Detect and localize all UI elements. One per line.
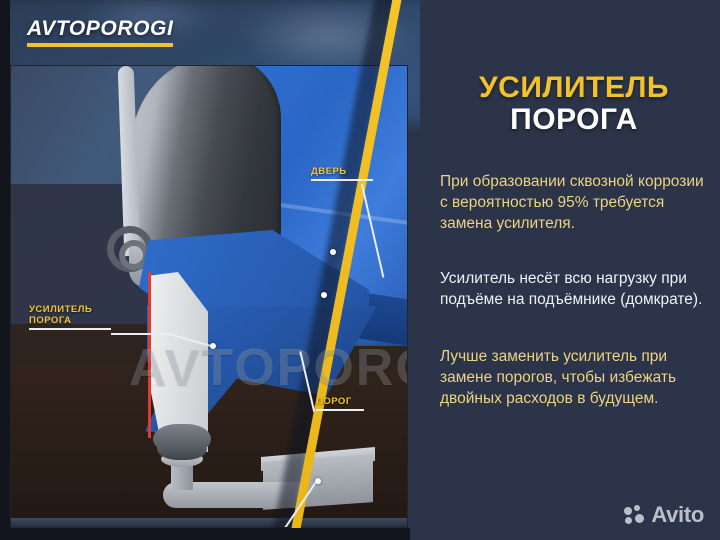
- callout-reinforcement-label-line1: УСИЛИТЕЛЬ: [29, 304, 92, 315]
- paragraph-load: Усилитель несёт всю нагрузку при подъёме…: [440, 268, 708, 310]
- callout-sill: ПОРОГ: [316, 396, 364, 411]
- callout-sill-rule: [316, 409, 364, 411]
- callout-door-point: [330, 249, 336, 255]
- callout-sill-point: [321, 292, 327, 298]
- paragraph-corrosion: При образовании сквозной коррозии с веро…: [440, 171, 708, 234]
- callout-reinforcement-rule: [29, 328, 111, 330]
- text-column: УСИЛИТЕЛЬ ПОРОГА При образовании сквозно…: [440, 72, 708, 409]
- brand-logo-underline: [27, 43, 173, 47]
- callout-reinforcement-point: [210, 343, 216, 349]
- callout-reinforcement-label-line2: ПОРОГА: [29, 315, 71, 326]
- avito-watermark: Avito: [624, 502, 704, 528]
- frame-left-border: [0, 0, 10, 540]
- lift-pad: [153, 424, 211, 454]
- callout-reinforcement-label: УСИЛИТЕЛЬПОРОГА: [29, 304, 111, 326]
- page-title: УСИЛИТЕЛЬ ПОРОГА: [440, 72, 708, 137]
- callout-reinforcement-leader: [111, 333, 171, 335]
- brand-logo-text: AVTOPOROGI: [27, 18, 173, 39]
- frame-bottom-border: [0, 528, 410, 540]
- artwork-bottom-edge: [11, 518, 408, 527]
- poster-canvas: AVTOPOROGI ДВЕРЬ УСИЛИТЕЛЬПОРОГА ПОРОГ П…: [0, 0, 720, 540]
- page-title-line1: УСИЛИТЕЛЬ: [440, 72, 708, 104]
- callout-door-rule: [311, 179, 373, 181]
- brand-logo[interactable]: AVTOPOROGI: [27, 18, 173, 47]
- callout-door-label: ДВЕРЬ: [311, 166, 373, 177]
- page-title-line2: ПОРОГА: [440, 104, 708, 136]
- callout-sill-label: ПОРОГ: [316, 396, 364, 407]
- callout-door: ДВЕРЬ: [311, 166, 373, 181]
- paragraph-advice: Лучше заменить усилитель при замене поро…: [440, 346, 708, 409]
- callout-lift-point: [315, 478, 321, 484]
- callout-reinforcement: УСИЛИТЕЛЬПОРОГА: [29, 304, 111, 330]
- avito-wordmark: Avito: [651, 502, 704, 528]
- corrosion-edge-marker: [148, 272, 151, 438]
- avito-logo-icon: [624, 505, 646, 525]
